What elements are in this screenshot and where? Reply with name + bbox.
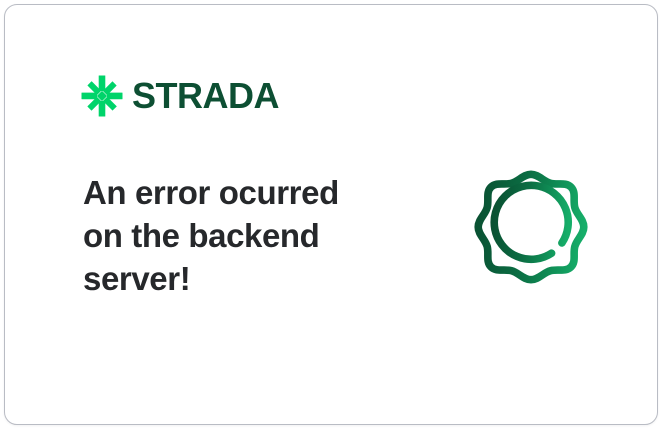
brand-logo: STRADA [81, 75, 279, 117]
gear-cog-icon [455, 151, 607, 303]
error-card: STRADA An error ocurred on the backend s… [4, 4, 658, 425]
brand-wordmark: STRADA [132, 78, 279, 114]
asterisk-starburst-icon [81, 75, 123, 117]
error-headline: An error ocurred on the backend server! [83, 171, 383, 300]
error-page: STRADA An error ocurred on the backend s… [0, 0, 666, 436]
